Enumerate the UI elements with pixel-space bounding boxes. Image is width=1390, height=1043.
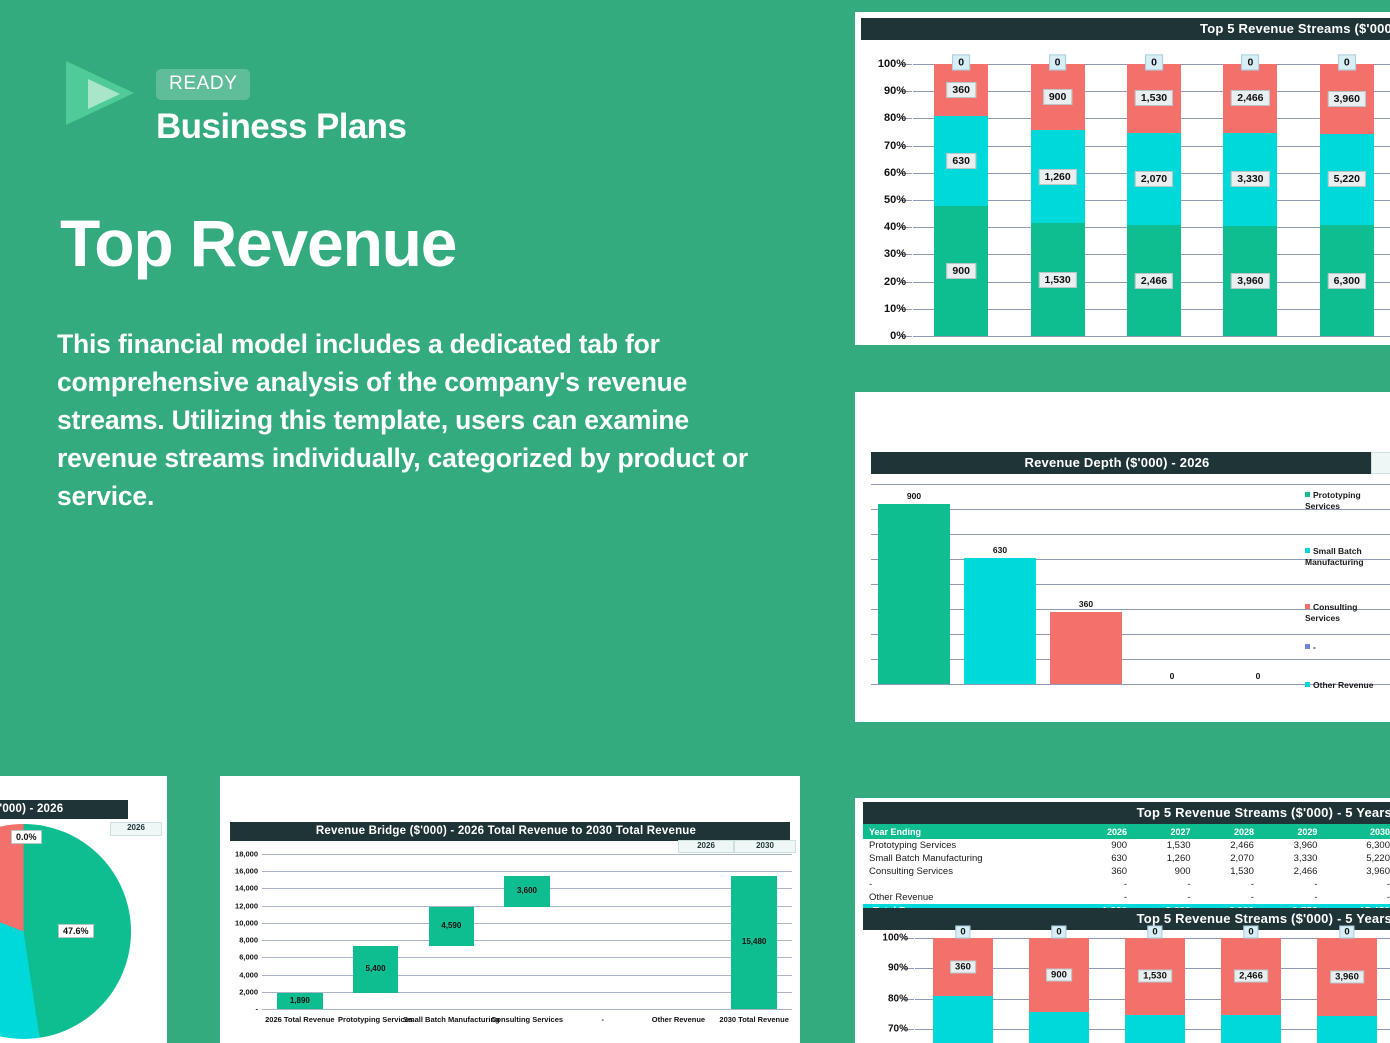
y-axis-label: 14,000 <box>226 884 258 893</box>
brand-logo: READY Business Plans <box>62 57 406 147</box>
gridline <box>262 854 792 855</box>
y-axis-label: 0% <box>890 330 906 342</box>
bar-data-label: 3,960 <box>1330 970 1364 983</box>
gridline <box>262 1009 792 1010</box>
bar-data-label: 900 <box>1046 969 1072 982</box>
gridline <box>913 336 1390 337</box>
chart-title-bottom-stacked: Top 5 Revenue Streams ($'000) - 5 Years <box>863 908 1390 930</box>
panel-run-rate-pie: Run-Rate ($'000) - 2026 2026 0.0% 0.0% 4… <box>0 776 167 1043</box>
y-axis-label: 90% <box>888 963 908 974</box>
y-axis-label: 2,000 <box>226 987 258 996</box>
x-axis-label: Consulting Services <box>491 1015 563 1024</box>
stacked-bar: 3,9603,3302,4660 <box>1223 64 1277 336</box>
gridline <box>262 992 792 993</box>
table-header-2027: 2027 <box>1137 824 1200 839</box>
ready-badge: READY <box>156 69 250 100</box>
table-cell-value: 3,960 <box>1264 839 1327 852</box>
table-cell-value: 1,260 <box>1137 852 1200 865</box>
depth-bar-0 <box>878 504 950 684</box>
x-axis-label: Small Batch Manufacturing <box>403 1015 500 1024</box>
table-cell-value: 630 <box>1074 852 1137 865</box>
x-axis-label: 2026 Total Revenue <box>265 1015 334 1024</box>
bar-data-label-zero: 0 <box>1145 54 1163 70</box>
legend-label: - <box>1313 642 1316 652</box>
table-cell-value: - <box>1327 878 1390 891</box>
bar-data-label: 1,530 <box>1138 970 1172 983</box>
legend-label: Consulting Services <box>1305 602 1357 623</box>
stacked-bar: 1,5301,2609000 <box>1031 64 1085 336</box>
table-cell-value: - <box>1264 891 1327 904</box>
x-axis-label: Other Revenue <box>652 1015 705 1024</box>
stacked-bar: 2,4662,0701,5300 <box>1127 64 1181 336</box>
play-triangle-icon <box>62 57 140 129</box>
bar-data-label: 3,960 <box>1231 273 1269 289</box>
waterfall-data-label: 1,890 <box>290 996 310 1005</box>
table-cell-value: - <box>1137 891 1200 904</box>
waterfall-data-label: 15,480 <box>742 937 766 946</box>
bar-data-label: 6,300 <box>1328 273 1366 289</box>
y-axis-label: 70% <box>888 1024 908 1035</box>
table-cell-value: 2,070 <box>1201 852 1264 865</box>
chart-revenue-depth-plot: 90063036000 <box>871 484 1301 684</box>
bar-data-label: 900 <box>946 263 976 279</box>
y-axis-label: 90% <box>884 85 906 97</box>
bridge-header-2026: 2026 <box>678 840 734 853</box>
bar-data-label-zero: 0 <box>1051 926 1066 939</box>
y-axis-label: 60% <box>884 167 906 179</box>
table-row: Other Revenue----- <box>863 891 1390 904</box>
chart-top-stacked-plot: 0%10%20%30%40%50%60%70%80%90%100%9006303… <box>913 64 1390 336</box>
legend-label: Prototyping Services <box>1305 490 1361 511</box>
table-cell-value: - <box>1074 891 1137 904</box>
run-rate-header-cell: 2026 <box>110 822 162 836</box>
bar-data-label: 360 <box>946 82 976 98</box>
panel-revenue-depth: Revenue Depth ($'000) - 2026 90063036000… <box>855 392 1390 722</box>
five-year-table: Year Ending 2026 2027 2028 2029 2030 Pro… <box>863 824 1390 919</box>
depth-data-label: 360 <box>1079 599 1093 609</box>
table-header-2028: 2028 <box>1201 824 1264 839</box>
stacked-bar: 6,3005,2203,9600 <box>1320 64 1374 336</box>
legend-label: Small Batch Manufacturing <box>1305 546 1364 567</box>
table-cell-value: 2,466 <box>1264 865 1327 878</box>
table-cell-value: 3,960 <box>1327 865 1390 878</box>
table-cell-value: - <box>1201 891 1264 904</box>
table-cell-value: 900 <box>1137 865 1200 878</box>
table-cell-label: Prototyping Services <box>863 839 1074 852</box>
depth-header-cell <box>1371 452 1390 474</box>
chart-title-revenue-bridge: Revenue Bridge ($'000) - 2026 Total Reve… <box>230 822 790 841</box>
stacked-bar: 3,9600 <box>1317 938 1377 1043</box>
stacked-bar: 3600 <box>933 938 993 1043</box>
panel-top-stacked: Top 5 Revenue Streams ($'000 0%10%20%30%… <box>855 12 1390 345</box>
bar-segment-small-batch-manufacturing <box>1029 1012 1089 1043</box>
gridline <box>262 871 792 872</box>
x-axis-label: 2030 Total Revenue <box>719 1015 788 1024</box>
bar-data-label: 1,530 <box>1135 90 1173 106</box>
chart-title-top-stacked: Top 5 Revenue Streams ($'000 <box>861 18 1390 40</box>
stacked-bar: 1,5300 <box>1125 938 1185 1043</box>
legend-swatch <box>1305 548 1310 553</box>
table-title-five-year: Top 5 Revenue Streams ($'000) - 5 Years <box>863 802 1390 824</box>
gridline <box>262 923 792 924</box>
gridline <box>262 940 792 941</box>
bar-data-label: 2,466 <box>1231 90 1269 106</box>
y-axis-label: - <box>226 1005 258 1014</box>
table-row: Prototyping Services9001,5302,4663,9606,… <box>863 839 1390 852</box>
y-axis-label: 4,000 <box>226 970 258 979</box>
legend-item: - <box>1305 642 1316 653</box>
y-axis-label: 50% <box>884 194 906 206</box>
depth-bar-1 <box>964 558 1036 684</box>
depth-data-label: 630 <box>993 545 1007 555</box>
legend-label: Other Revenue <box>1313 680 1373 690</box>
bar-data-label-zero: 0 <box>1339 926 1354 939</box>
pie-label-prototyping: 47.6% <box>58 924 94 938</box>
bar-data-label: 5,220 <box>1328 171 1366 187</box>
table-cell-value: - <box>1074 878 1137 891</box>
legend-swatch <box>1305 682 1310 687</box>
brand-text: READY Business Plans <box>156 57 406 147</box>
bar-data-label-zero: 0 <box>1243 926 1258 939</box>
table-cell-value: - <box>1327 891 1390 904</box>
table-row: Small Batch Manufacturing6301,2602,0703,… <box>863 852 1390 865</box>
waterfall-data-label: 4,590 <box>441 921 461 930</box>
chart-title-run-rate: Run-Rate ($'000) - 2026 <box>0 800 128 819</box>
table-body: Prototyping Services9001,5302,4663,9606,… <box>863 839 1390 919</box>
table-row: ------ <box>863 878 1390 891</box>
legend-swatch <box>1305 492 1310 497</box>
y-axis-label: 40% <box>884 221 906 233</box>
table-cell-label: Small Batch Manufacturing <box>863 852 1074 865</box>
bar-segment-small-batch-manufacturing <box>1221 1015 1281 1043</box>
waterfall-data-label: 5,400 <box>366 964 386 973</box>
y-axis-label: 18,000 <box>226 850 258 859</box>
bar-segment-small-batch-manufacturing <box>933 996 993 1043</box>
legend-swatch <box>1305 604 1310 609</box>
x-axis-label: Prototyping Services <box>338 1015 413 1024</box>
chart-revenue-depth-legend: Prototyping ServicesSmall Batch Manufact… <box>1305 484 1390 684</box>
bar-data-label: 3,330 <box>1231 171 1269 187</box>
panel-five-year: Top 5 Revenue Streams ($'000) - 5 Years … <box>855 798 1390 1043</box>
bar-data-label: 630 <box>946 153 976 169</box>
table-header-2026: 2026 <box>1074 824 1137 839</box>
bar-data-label-zero: 0 <box>1338 54 1356 70</box>
bar-segment-small-batch-manufacturing <box>1125 1015 1185 1043</box>
table-cell-value: 2,466 <box>1201 839 1264 852</box>
y-axis-label: 100% <box>882 933 908 944</box>
bar-data-label: 360 <box>950 960 976 973</box>
table-header-2029: 2029 <box>1264 824 1327 839</box>
y-axis-label: 8,000 <box>226 936 258 945</box>
table-cell-value: - <box>1137 878 1200 891</box>
legend-item: Prototyping Services <box>1305 490 1361 512</box>
y-axis-label: 30% <box>884 248 906 260</box>
y-axis-label: 10% <box>884 303 906 315</box>
bridge-header-2030: 2030 <box>734 840 796 853</box>
table-header-row: Year Ending 2026 2027 2028 2029 2030 <box>863 824 1390 839</box>
table-cell-label: Consulting Services <box>863 865 1074 878</box>
legend-item: Other Revenue <box>1305 680 1373 691</box>
waterfall-data-label: 3,600 <box>517 886 537 895</box>
stacked-bar: 2,4660 <box>1221 938 1281 1043</box>
table-cell-value: 3,330 <box>1264 852 1327 865</box>
y-axis-label: 100% <box>878 58 906 70</box>
pie-label-dash: 0.0% <box>11 830 42 844</box>
bar-data-label: 1,260 <box>1038 169 1076 185</box>
bar-data-label-zero: 0 <box>952 54 970 70</box>
y-axis-label: 80% <box>884 112 906 124</box>
bar-data-label: 2,466 <box>1234 970 1268 983</box>
y-axis-label: 10,000 <box>226 918 258 927</box>
slide-canvas: READY Business Plans Top Revenue This fi… <box>0 0 1390 1043</box>
bar-data-label: 3,960 <box>1328 91 1366 107</box>
stacked-bar: 9000 <box>1029 938 1089 1043</box>
bar-data-label-zero: 0 <box>1049 54 1067 70</box>
y-axis-label: 12,000 <box>226 901 258 910</box>
table-cell-value: 5,220 <box>1327 852 1390 865</box>
stacked-bar: 9006303600 <box>934 64 988 336</box>
bar-data-label: 2,070 <box>1135 171 1173 187</box>
legend-swatch <box>1305 644 1310 649</box>
y-axis-label: 16,000 <box>226 867 258 876</box>
y-axis-label: 80% <box>888 993 908 1004</box>
chart-bottom-stacked-plot: 70%80%90%100%360090001,53002,46603,9600 <box>915 938 1390 1043</box>
table-cell-value: 1,530 <box>1137 839 1200 852</box>
bar-data-label: 1,530 <box>1038 272 1076 288</box>
x-axis-label: - <box>601 1015 604 1024</box>
y-axis-label: 20% <box>884 276 906 288</box>
table-header-year-ending: Year Ending <box>863 824 1074 839</box>
table-cell-value: 900 <box>1074 839 1137 852</box>
page-title: Top Revenue <box>60 205 456 281</box>
table-cell-label: Other Revenue <box>863 891 1074 904</box>
gridline <box>262 975 792 976</box>
bar-data-label-zero: 0 <box>1241 54 1259 70</box>
bar-data-label-zero: 0 <box>1147 926 1162 939</box>
legend-item: Small Batch Manufacturing <box>1305 546 1364 568</box>
table-cell-value: - <box>1264 878 1327 891</box>
page-description: This financial model includes a dedicate… <box>57 325 762 515</box>
bar-segment-small-batch-manufacturing <box>1317 1016 1377 1043</box>
panel-revenue-bridge: Revenue Bridge ($'000) - 2026 Total Reve… <box>220 776 800 1043</box>
pie-chart-run-rate: 0.0% 0.0% 47.6% .0% <box>0 852 131 1010</box>
bar-data-label: 900 <box>1043 89 1073 105</box>
chart-revenue-bridge-plot: -2,0004,0006,0008,00010,00012,00014,0001… <box>262 854 792 1009</box>
table-cell-value: 360 <box>1074 865 1137 878</box>
y-axis-label: 70% <box>884 140 906 152</box>
depth-data-label: 900 <box>907 491 921 501</box>
bar-data-label-zero: 0 <box>955 926 970 939</box>
table-cell-label: - <box>863 878 1074 891</box>
depth-data-label: 0 <box>1170 671 1175 681</box>
y-axis-label: 6,000 <box>226 953 258 962</box>
gridline <box>262 957 792 958</box>
table-cell-value: 1,530 <box>1201 865 1264 878</box>
table-row: Consulting Services3609001,5302,4663,960 <box>863 865 1390 878</box>
table-cell-value: - <box>1201 878 1264 891</box>
table-cell-value: 6,300 <box>1327 839 1390 852</box>
legend-item: Consulting Services <box>1305 602 1357 624</box>
depth-data-label: 0 <box>1256 671 1261 681</box>
bar-data-label: 2,466 <box>1135 273 1173 289</box>
table-header-2030: 2030 <box>1327 824 1390 839</box>
depth-bar-2 <box>1050 612 1122 684</box>
brand-name: Business Plans <box>156 107 406 147</box>
chart-title-revenue-depth: Revenue Depth ($'000) - 2026 <box>871 452 1371 474</box>
